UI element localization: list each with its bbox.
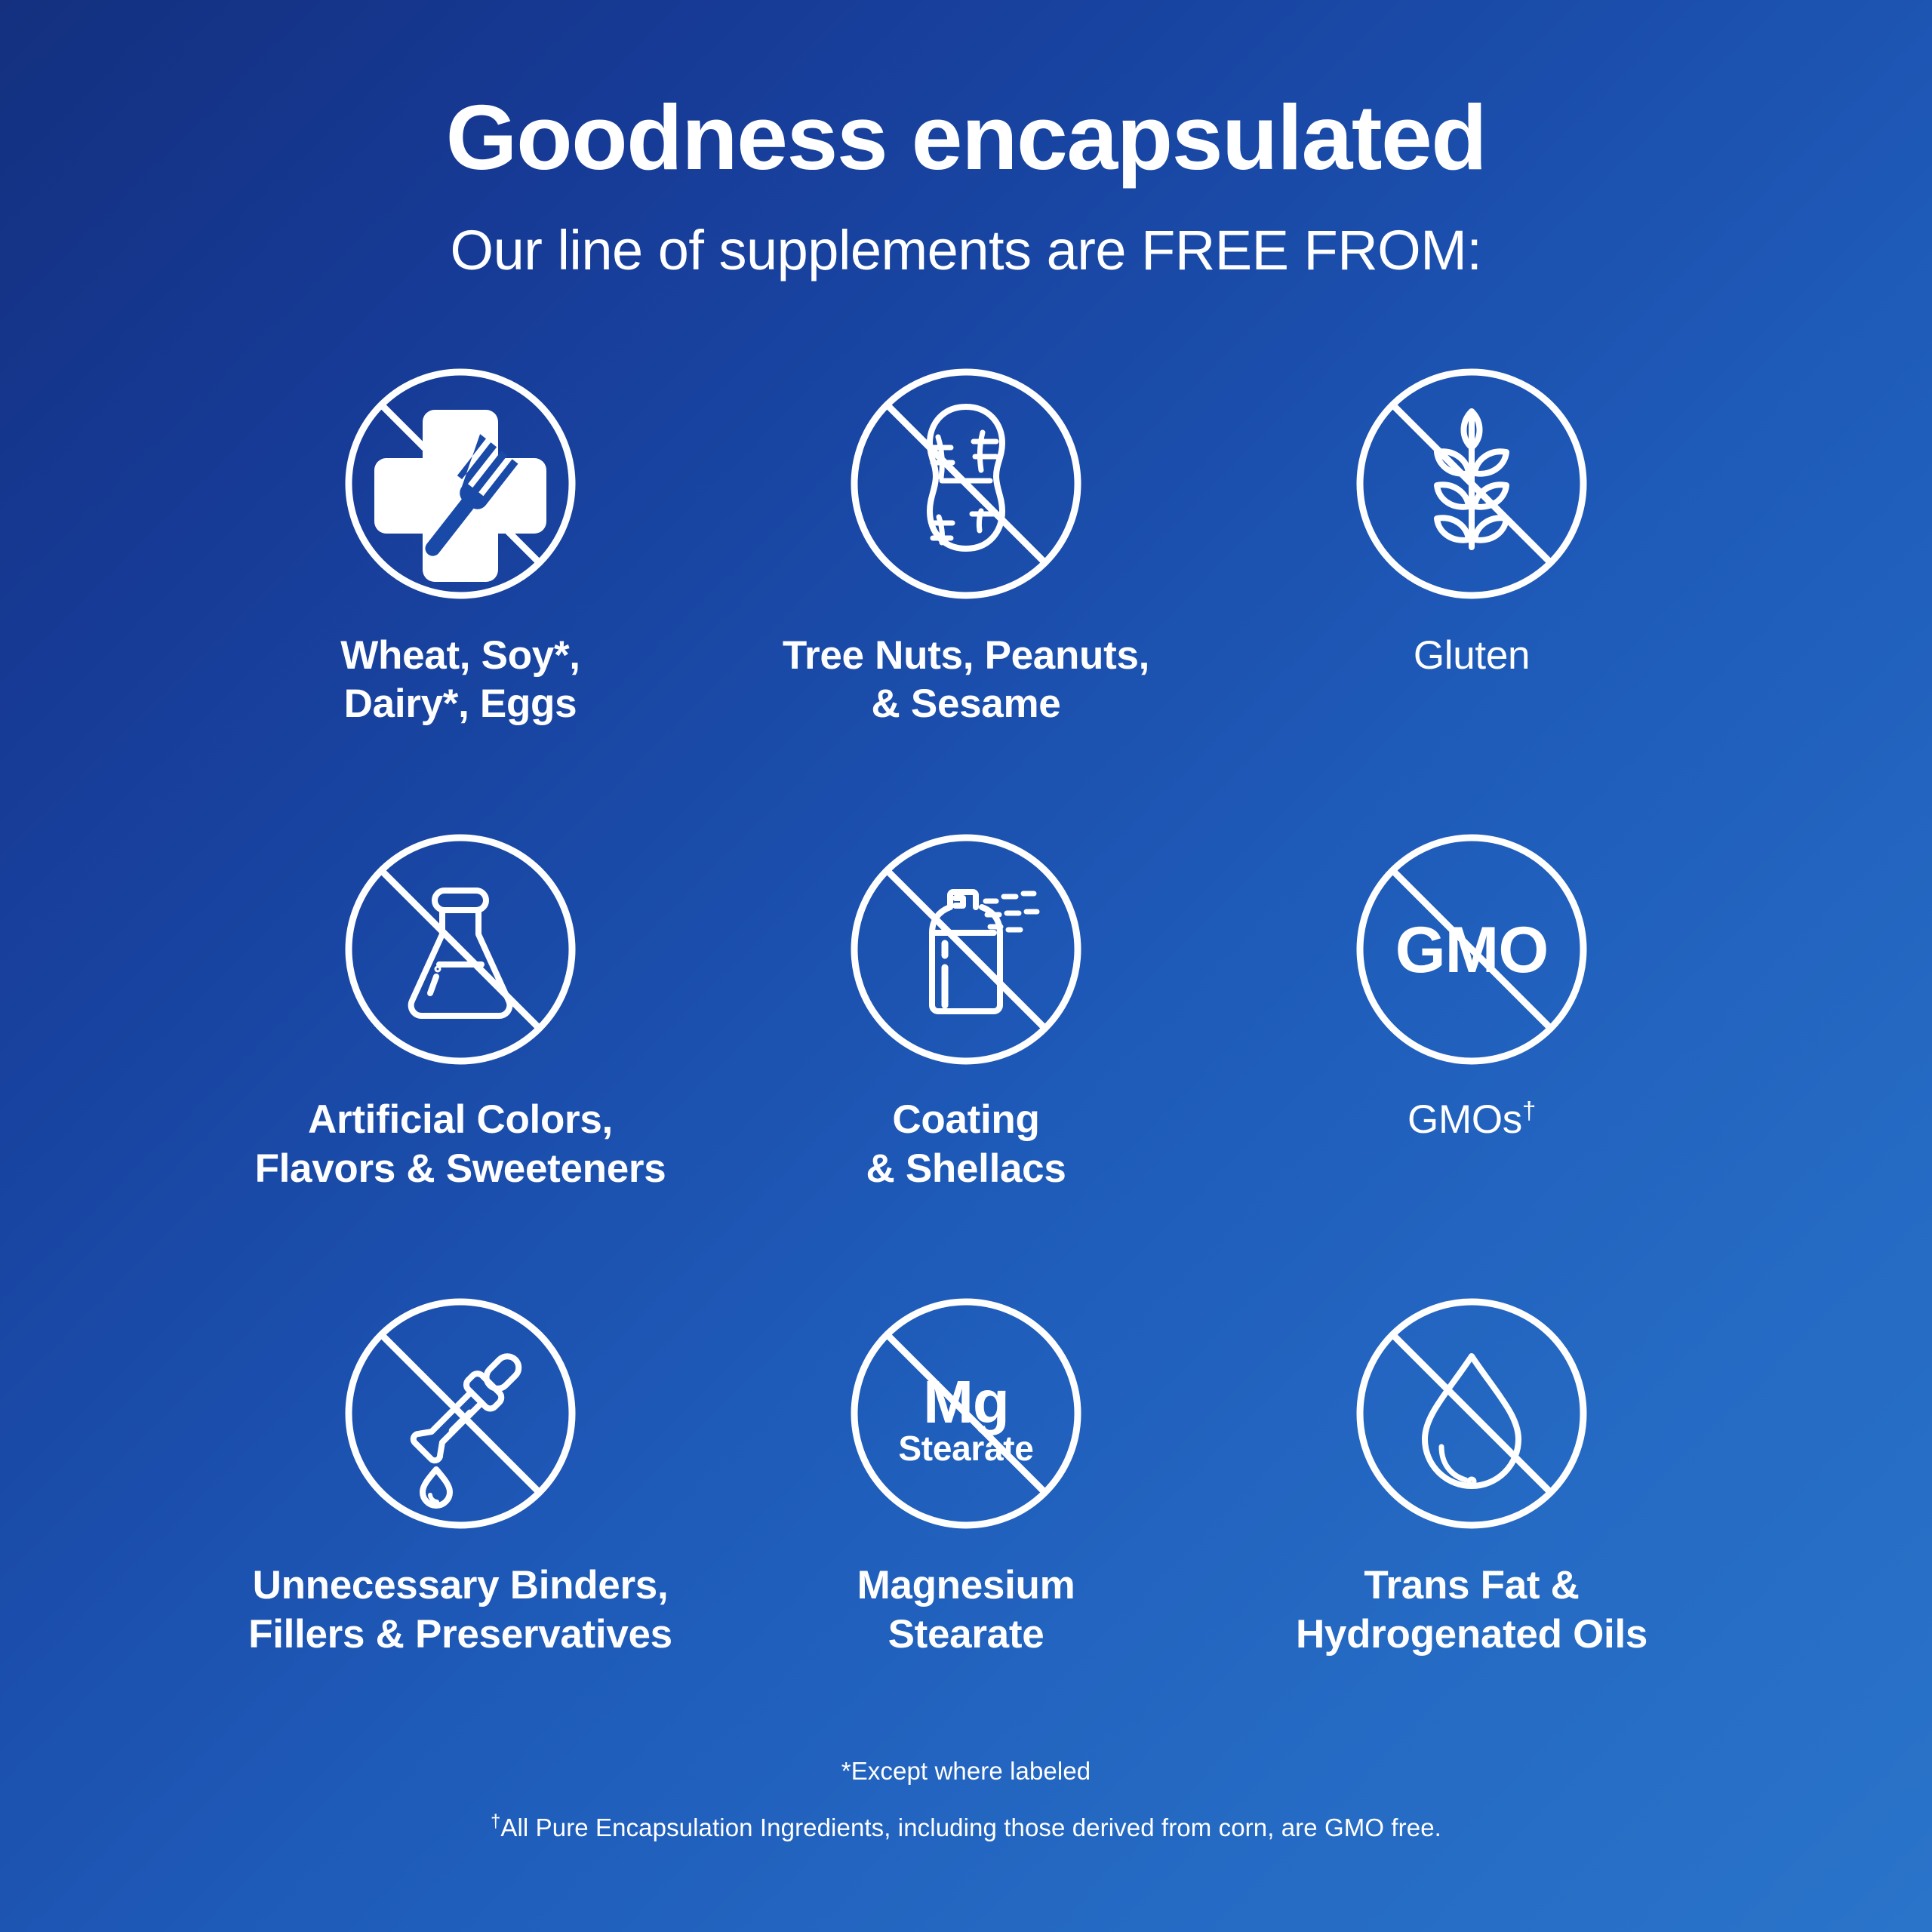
free-from-label: Magnesium Stearate <box>857 1561 1075 1659</box>
free-from-item-magnesium-stearate: Mg Stearate Magnesium Stearate <box>713 1293 1219 1659</box>
free-from-item-coating-shellacs: Coating & Shellacs <box>713 829 1219 1193</box>
free-from-label: Gluten <box>1414 632 1530 681</box>
row-spacer <box>208 756 1724 801</box>
free-from-item-trans-fat-hydrogenated-oils: Trans Fat & Hydrogenated Oils <box>1219 1293 1724 1659</box>
free-from-label-text: GMOs <box>1407 1097 1522 1142</box>
free-from-label: Unnecessary Binders, Fillers & Preservat… <box>248 1561 672 1659</box>
stearate-icon-label: Stearate <box>898 1429 1033 1468</box>
footnotes-block: *Except where labeled †All Pure Encapsul… <box>0 1758 1932 1932</box>
mg-icon-label: Mg <box>923 1368 1009 1435</box>
oil-droplet-icon <box>1351 1293 1592 1534</box>
free-from-item-tree-nuts-peanuts-sesame: Tree Nuts, Peanuts, & Sesame <box>713 363 1219 729</box>
free-from-item-binders-fillers-preservatives: Unnecessary Binders, Fillers & Preservat… <box>208 1293 713 1659</box>
footnote-marker-dagger: † <box>1522 1096 1536 1124</box>
poster-header: Goodness encapsulated Our line of supple… <box>0 0 1932 281</box>
page-title: Goodness encapsulated <box>0 89 1932 186</box>
footnote-dagger-text: All Pure Encapsulation Ingredients, incl… <box>500 1814 1441 1841</box>
poster-root: Goodness encapsulated Our line of supple… <box>0 0 1932 1932</box>
row-spacer <box>208 1220 1724 1266</box>
free-from-grid: Wheat, Soy*, Dairy*, Eggs <box>208 363 1724 1660</box>
footnote-asterisk: *Except where labeled <box>0 1758 1932 1783</box>
free-from-item-artificial-colors-flavors-sweeteners: Artificial Colors, Flavors & Sweeteners <box>208 829 713 1193</box>
spray-can-icon <box>845 829 1087 1070</box>
erlenmeyer-flask-icon <box>340 829 581 1070</box>
free-from-label: Wheat, Soy*, Dairy*, Eggs <box>340 632 580 729</box>
gmo-icon-label: GMO <box>1395 914 1548 986</box>
medical-cross-fork-icon <box>340 363 581 605</box>
footnote-dagger: †All Pure Encapsulation Ingredients, inc… <box>0 1815 1932 1840</box>
gmo-text-icon: GMO <box>1351 829 1592 1070</box>
wheat-stalk-icon <box>1351 363 1592 605</box>
free-from-label: Artificial Colors, Flavors & Sweeteners <box>255 1096 666 1193</box>
free-from-label: GMOs† <box>1407 1096 1536 1145</box>
dropper-pipette-icon <box>340 1293 581 1534</box>
mg-stearate-text-icon: Mg Stearate <box>845 1293 1087 1534</box>
free-from-label: Trans Fat & Hydrogenated Oils <box>1296 1561 1647 1659</box>
free-from-label: Coating & Shellacs <box>866 1096 1066 1193</box>
free-from-label: Tree Nuts, Peanuts, & Sesame <box>783 632 1149 729</box>
free-from-item-gluten: Gluten <box>1219 363 1724 729</box>
footnote-dagger-marker: † <box>491 1811 500 1832</box>
free-from-item-gmos: GMO GMOs† <box>1219 829 1724 1193</box>
page-subtitle: Our line of supplements are FREE FROM: <box>0 220 1932 281</box>
free-from-item-wheat-soy-dairy-eggs: Wheat, Soy*, Dairy*, Eggs <box>208 363 713 729</box>
peanut-icon <box>845 363 1087 605</box>
